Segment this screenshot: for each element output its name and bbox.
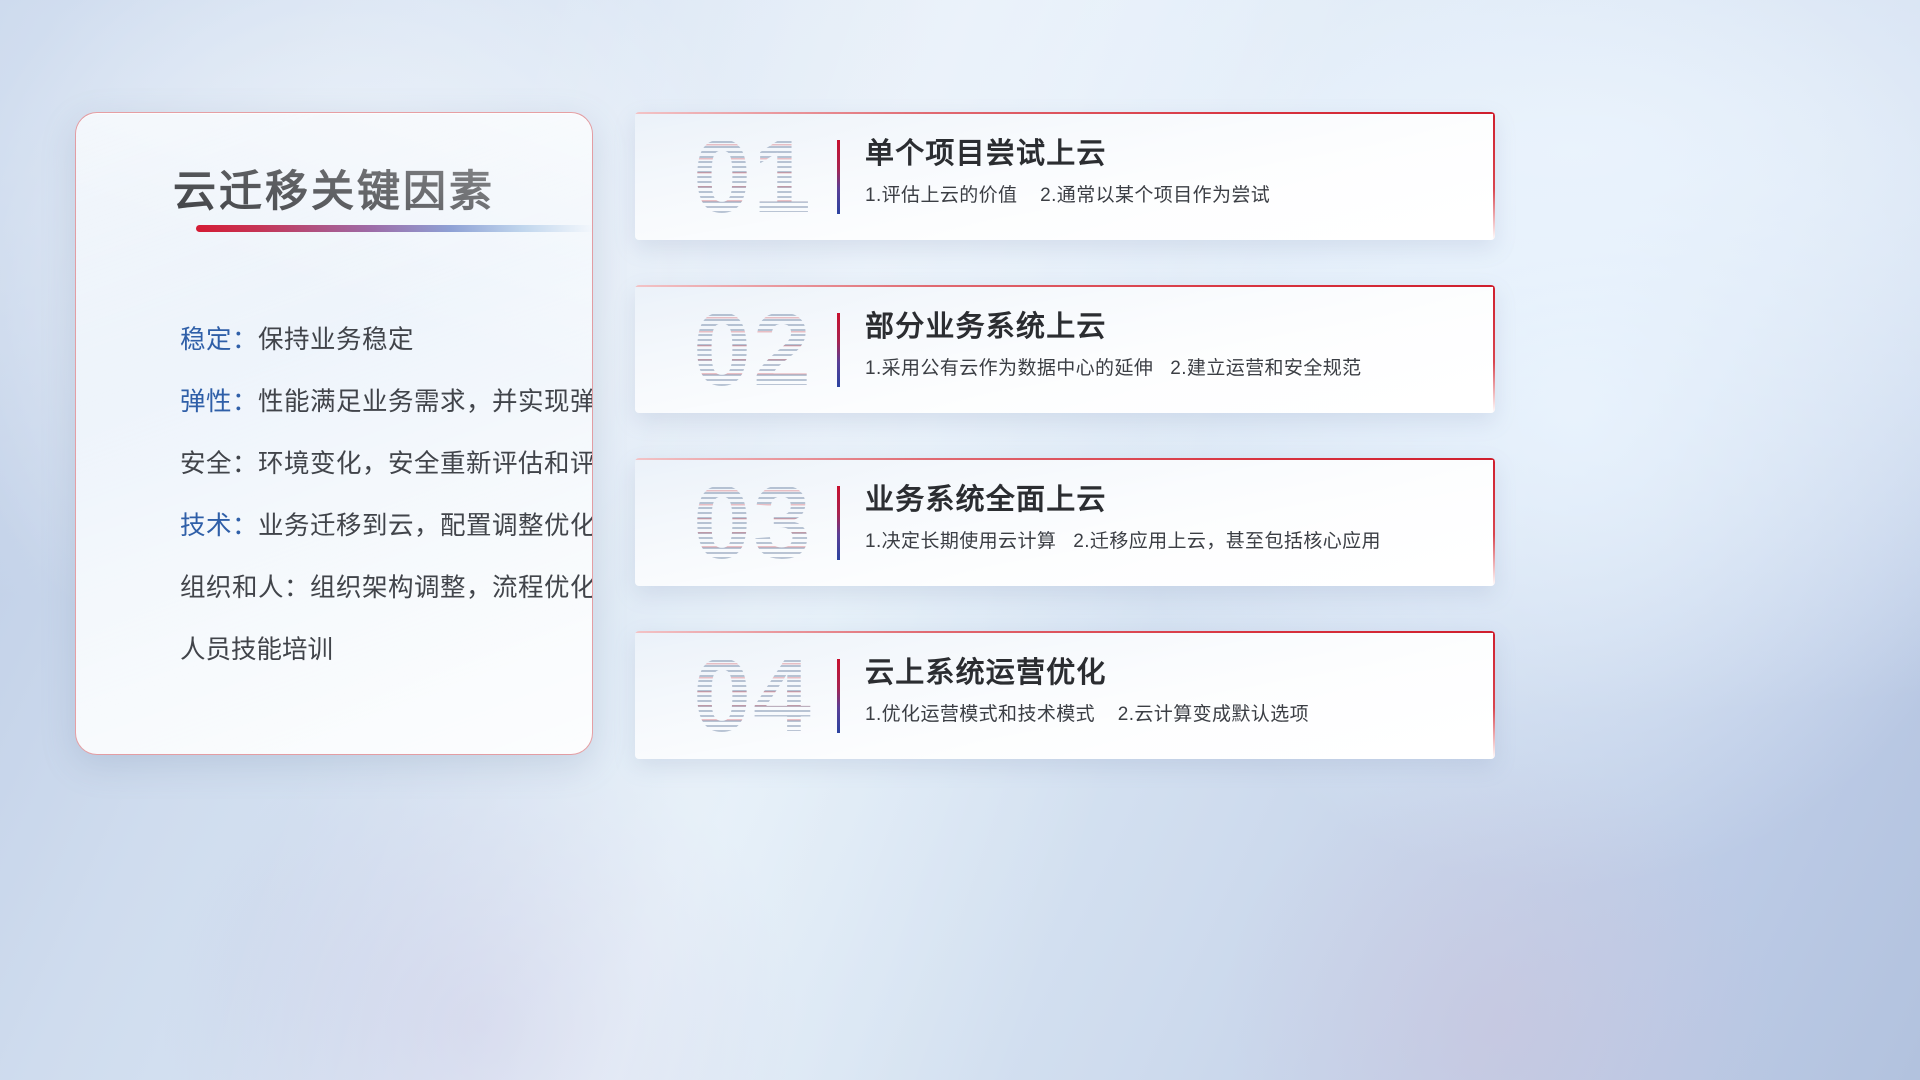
stage-number-02: 02 (663, 289, 843, 411)
stage-divider-bar-03 (837, 486, 840, 560)
factor-label-technology: 技术： (180, 495, 258, 557)
factor-label-elasticity: 弹性： (180, 371, 258, 433)
stage-heading-04: 云上系统运营优化 (865, 651, 1471, 695)
stage-card-04[interactable]: 04 04 云上系统运营优化 1.优化运营模式和技术模式 2.云计算变成默认选项 (635, 631, 1495, 759)
stage-number-01: 01 (663, 116, 843, 238)
factor-text-elasticity: 性能满足业务需求，并实现弹性 (258, 371, 593, 433)
stage-card-list: 01 01 单个项目尝试上云 1.评估上云的价值 2.通常以某个项目作为尝试 0… (635, 112, 1495, 804)
stage-body-02: 部分业务系统上云 1.采用公有云作为数据中心的延伸 2.建立运营和安全规范 (865, 305, 1471, 383)
factor-text-organization: 组织架构调整，流程优化， (310, 557, 593, 619)
factor-row-stability: 稳定： 保持业务稳定 (180, 309, 568, 371)
stage-subtitle-02: 1.采用公有云作为数据中心的延伸 2.建立运营和安全规范 (865, 355, 1471, 383)
stage-card-02[interactable]: 02 02 部分业务系统上云 1.采用公有云作为数据中心的延伸 2.建立运营和安… (635, 285, 1495, 413)
factor-text-stability: 保持业务稳定 (258, 309, 414, 371)
stage-divider-bar-02 (837, 313, 840, 387)
stage-divider-bar-04 (837, 659, 840, 733)
key-factors-panel: 云迁移关键因素 稳定： 保持业务稳定 弹性： 性能满足业务需求，并实现弹性 安全… (75, 112, 593, 755)
stage-card-01[interactable]: 01 01 单个项目尝试上云 1.评估上云的价值 2.通常以某个项目作为尝试 (635, 112, 1495, 240)
factor-label-stability: 稳定： (180, 309, 258, 371)
factor-row-elasticity: 弹性： 性能满足业务需求，并实现弹性 (180, 371, 568, 433)
factor-row-security: 安全： 环境变化，安全重新评估和评审 (180, 433, 568, 495)
factor-text-organization-continued: 人员技能培训 (180, 619, 568, 681)
stage-subtitle-03: 1.决定长期使用云计算 2.迁移应用上云，甚至包括核心应用 (865, 528, 1471, 556)
factor-label-security: 安全： (180, 433, 258, 495)
stage-subtitle-01: 1.评估上云的价值 2.通常以某个项目作为尝试 (865, 182, 1471, 210)
stage-heading-02: 部分业务系统上云 (865, 305, 1471, 349)
stage-body-04: 云上系统运营优化 1.优化运营模式和技术模式 2.云计算变成默认选项 (865, 651, 1471, 729)
factor-label-organization: 组织和人： (180, 557, 310, 619)
factor-list: 稳定： 保持业务稳定 弹性： 性能满足业务需求，并实现弹性 安全： 环境变化，安… (180, 309, 568, 681)
stage-number-03: 03 (663, 462, 843, 584)
stage-heading-03: 业务系统全面上云 (865, 478, 1471, 522)
panel-title: 云迁移关键因素 (76, 157, 592, 219)
factor-row-organization: 组织和人： 组织架构调整，流程优化， (180, 557, 568, 619)
stage-number-04: 04 (663, 635, 843, 757)
stage-heading-01: 单个项目尝试上云 (865, 132, 1471, 176)
stage-body-01: 单个项目尝试上云 1.评估上云的价值 2.通常以某个项目作为尝试 (865, 132, 1471, 210)
title-underline-accent (196, 225, 593, 232)
stage-divider-bar-01 (837, 140, 840, 214)
slide-stage: 云迁移关键因素 稳定： 保持业务稳定 弹性： 性能满足业务需求，并实现弹性 安全… (0, 0, 1920, 1080)
stage-subtitle-04: 1.优化运营模式和技术模式 2.云计算变成默认选项 (865, 701, 1471, 729)
stage-body-03: 业务系统全面上云 1.决定长期使用云计算 2.迁移应用上云，甚至包括核心应用 (865, 478, 1471, 556)
factor-row-technology: 技术： 业务迁移到云，配置调整优化 (180, 495, 568, 557)
factor-text-technology: 业务迁移到云，配置调整优化 (258, 495, 593, 557)
stage-card-03[interactable]: 03 03 业务系统全面上云 1.决定长期使用云计算 2.迁移应用上云，甚至包括… (635, 458, 1495, 586)
factor-text-security: 环境变化，安全重新评估和评审 (258, 433, 593, 495)
